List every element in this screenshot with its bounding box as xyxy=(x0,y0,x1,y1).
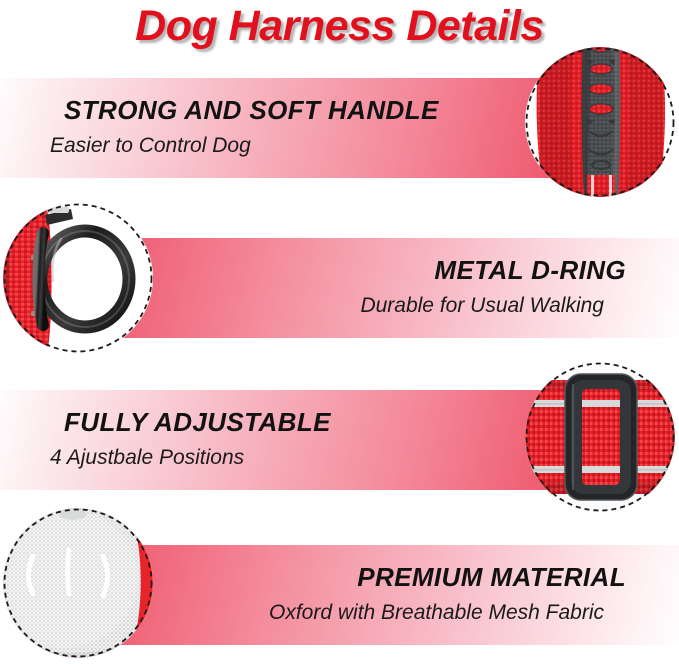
feature-subtitle: Oxford with Breathable Mesh Fabric xyxy=(269,599,604,626)
d-ring-closeup-photo xyxy=(3,203,153,353)
feature-subtitle: Easier to Control Dog xyxy=(50,132,251,159)
feature-subtitle: Durable for Usual Walking xyxy=(360,292,604,319)
mesh-fabric-closeup-photo xyxy=(3,508,153,658)
handle-closeup-photo xyxy=(525,47,675,197)
page-title: Dog Harness Details xyxy=(0,2,679,51)
feature-heading: STRONG AND SOFT HANDLE xyxy=(64,96,439,126)
feature-heading: METAL D-RING xyxy=(434,256,626,286)
feature-heading: PREMIUM MATERIAL xyxy=(357,563,626,593)
buckle-closeup-photo xyxy=(525,362,675,512)
buckle-photo-art xyxy=(525,362,675,512)
mesh-fabric-photo-art xyxy=(3,508,153,658)
d-ring-photo-art xyxy=(3,203,153,353)
feature-subtitle: 4 Ajustbale Positions xyxy=(50,444,244,471)
feature-heading: FULLY ADJUSTABLE xyxy=(64,408,331,438)
handle-photo-art xyxy=(525,47,675,197)
